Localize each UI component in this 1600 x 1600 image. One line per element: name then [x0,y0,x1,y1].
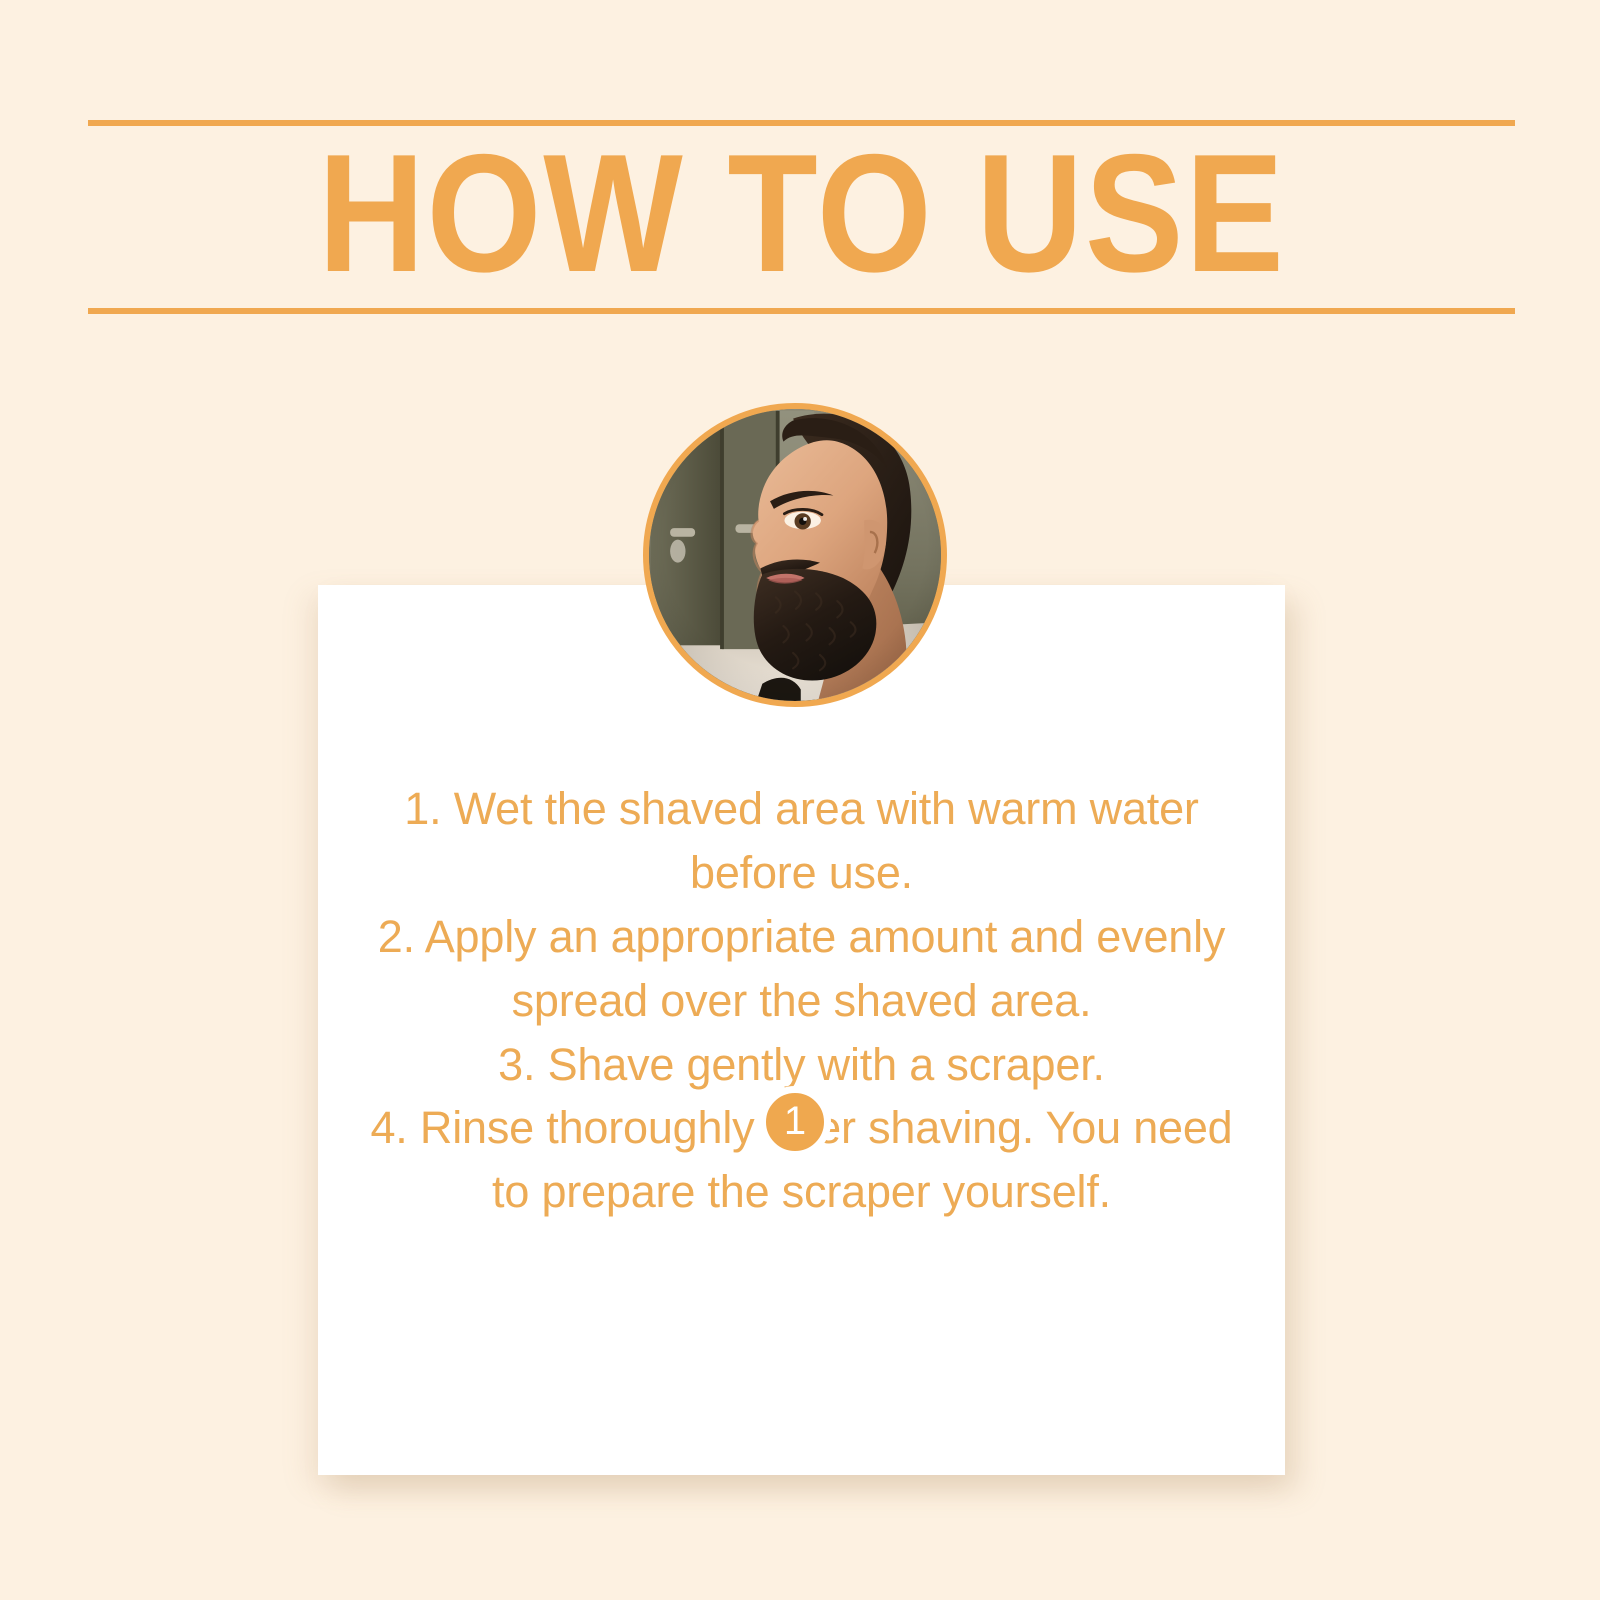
instructions-card: 1. Wet the shaved area with warm water b… [318,585,1285,1475]
step-number-badge: 1 [759,1086,831,1158]
page-title: HOW TO USE [88,133,1515,301]
title-rule-bottom [88,308,1515,314]
avatar: 1 [643,403,947,707]
page-header: HOW TO USE [88,120,1515,314]
page-title-text: HOW TO USE [318,129,1286,297]
avatar-ring [643,403,947,707]
avatar-photo [649,409,941,701]
step-number-label: 1 [784,1101,806,1141]
